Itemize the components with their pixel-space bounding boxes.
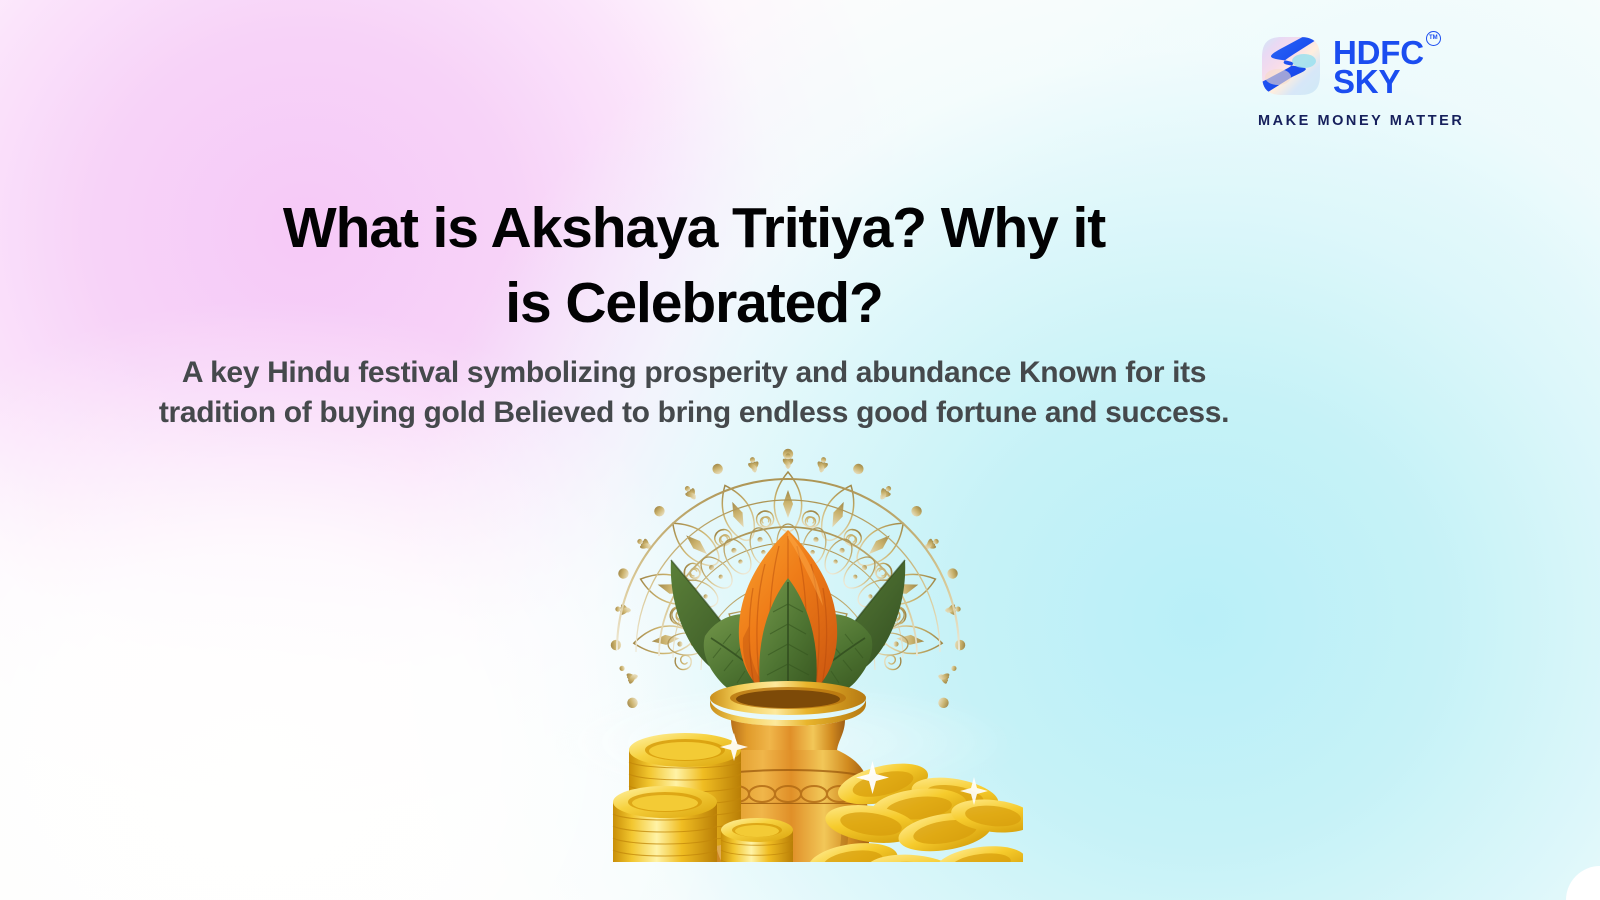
page-title: What is Akshaya Tritiya? Why it is Celeb… <box>0 191 1600 340</box>
wordmark-line-2: SKY <box>1333 67 1424 96</box>
hdfc-sky-swoosh-icon <box>1258 33 1324 99</box>
page-subtitle-line-1: A key Hindu festival symbolizing prosper… <box>0 353 1388 393</box>
kalash-with-gold-coins-illustration <box>553 412 1023 862</box>
logo-row: HDFC SKY TM <box>1258 30 1480 102</box>
brand-tagline: MAKE MONEY MATTER <box>1258 113 1480 129</box>
brand-wordmark: HDFC SKY TM <box>1333 36 1424 96</box>
gold-coin-small-stack <box>721 818 793 862</box>
page-title-line-1: What is Akshaya Tritiya? Why it <box>0 191 1388 266</box>
brand-logo[interactable]: HDFC SKY TM MAKE MONEY MATTER <box>1258 30 1480 142</box>
page-title-line-2: is Celebrated? <box>0 266 1388 341</box>
banner-root: HDFC SKY TM MAKE MONEY MATTER What is Ak… <box>0 0 1600 900</box>
trademark-icon: TM <box>1426 31 1441 46</box>
